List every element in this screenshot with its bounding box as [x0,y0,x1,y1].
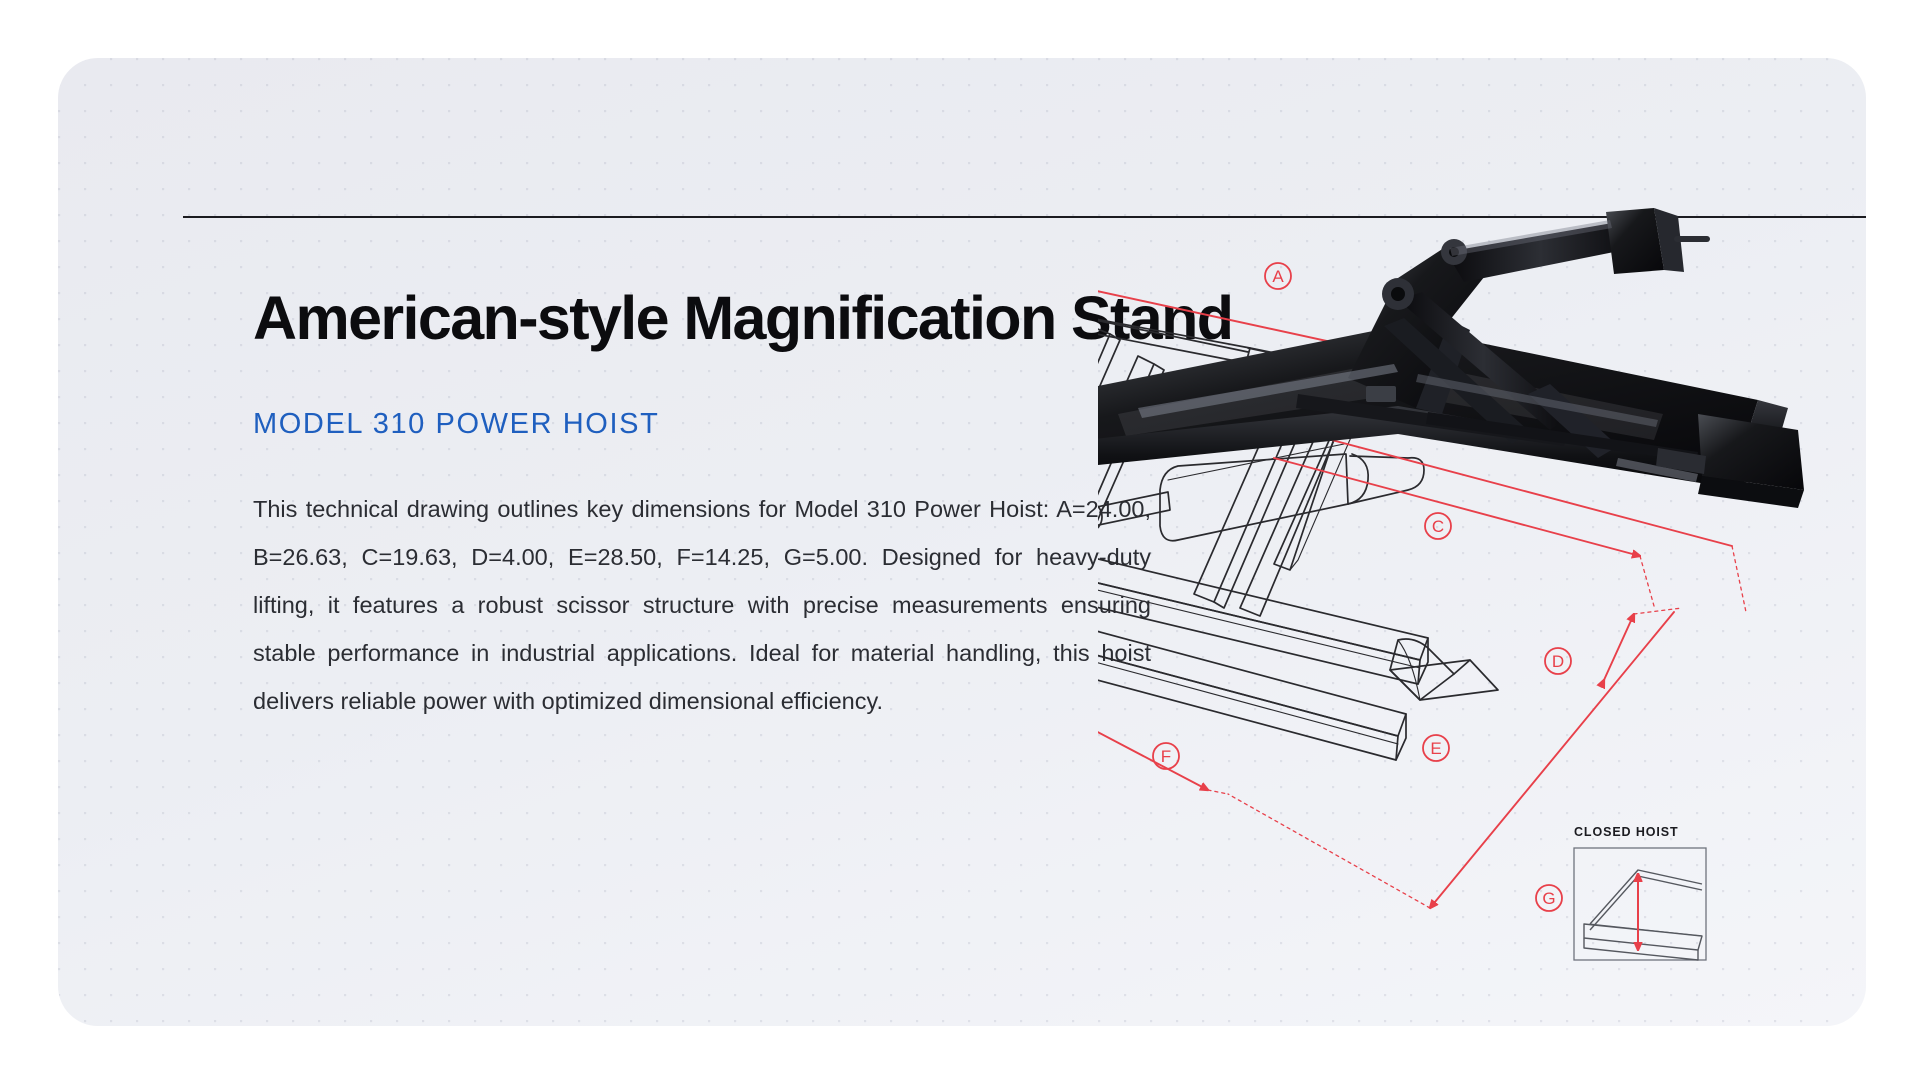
hoist-line-drawing: A B C D E [1098,208,1858,1026]
callout-b: B [1540,410,1566,436]
callout-e: E [1423,735,1449,761]
callout-g: G [1536,885,1562,911]
dimension-line-b [1294,430,1732,546]
callout-e-label: E [1430,739,1441,758]
callout-d: D [1545,648,1571,674]
text-column: American-style Magnification Stand MODEL… [253,286,1153,725]
closed-hoist-inset: CLOSED HOIST G [1536,825,1706,960]
description-paragraph: This technical drawing outlines key dime… [253,485,1151,725]
callout-d-label: D [1552,652,1564,671]
technical-drawing: A B C D E [1098,208,1858,1026]
callout-group: A B C D E [1153,263,1571,769]
inset-title: CLOSED HOIST [1574,825,1679,839]
dimension-line-d [1604,614,1634,680]
content-card: American-style Magnification Stand MODEL… [58,58,1866,1026]
callout-g-label: G [1542,889,1555,908]
callout-b-label: B [1547,414,1558,433]
callout-c-label: C [1432,517,1444,536]
callout-c: C [1425,513,1451,539]
callout-f: F [1153,743,1179,769]
callout-f-label: F [1161,747,1171,766]
page-root: American-style Magnification Stand MODEL… [0,0,1920,1080]
page-title: American-style Magnification Stand [253,286,1153,350]
callout-a-label: A [1272,267,1284,286]
dimension-line-f [1098,686,1208,790]
callout-a: A [1265,263,1291,289]
model-subtitle: MODEL 310 POWER HOIST [253,408,1153,441]
